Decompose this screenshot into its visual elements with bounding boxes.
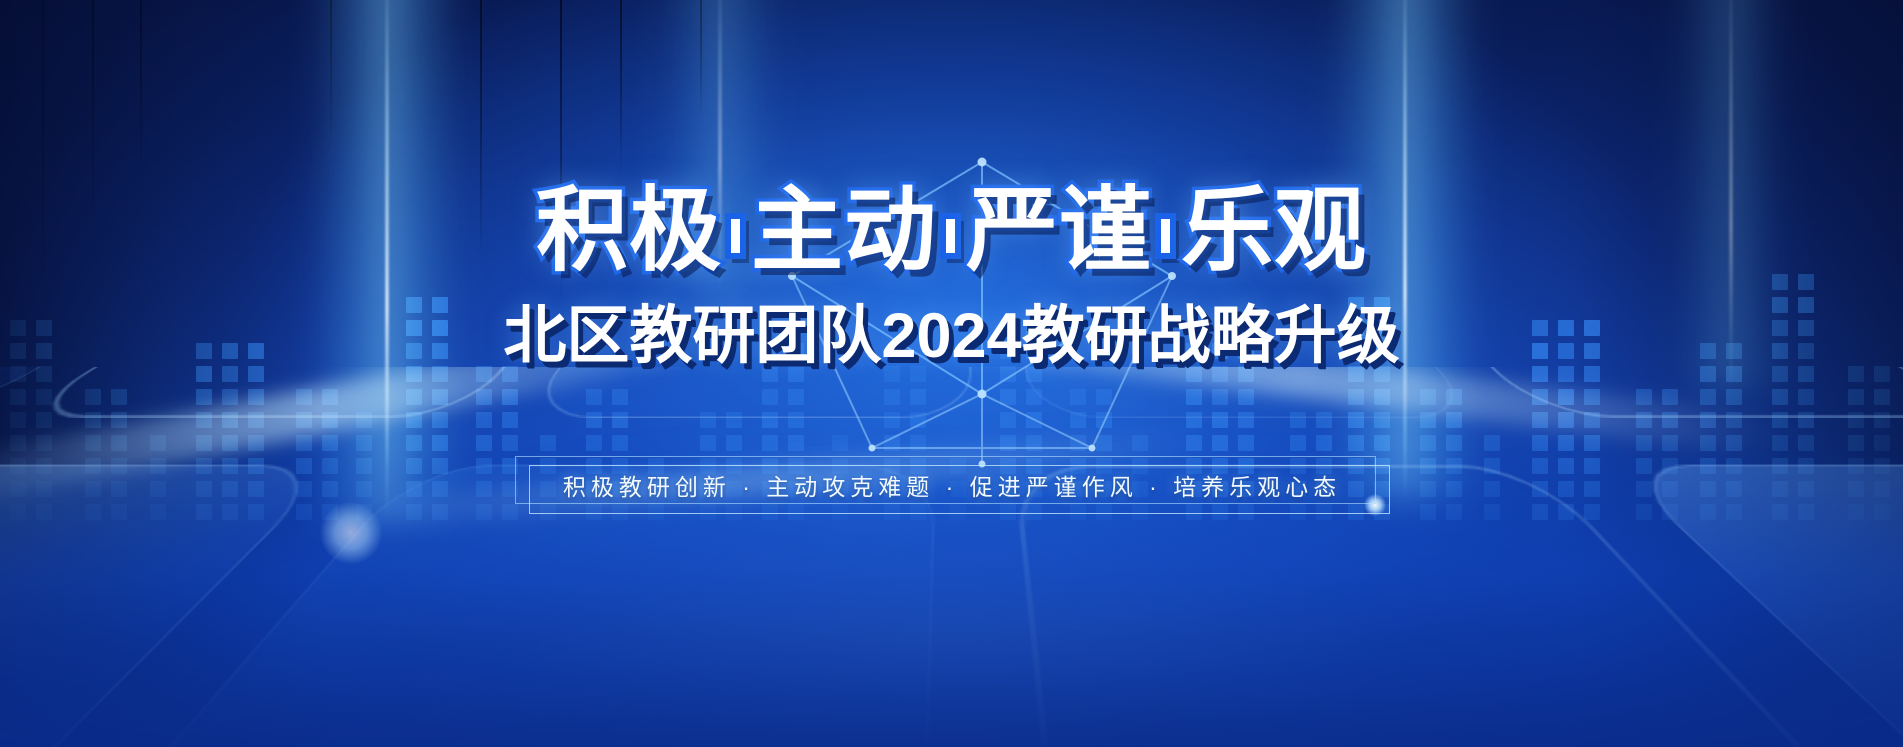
sub-title: 北区教研团队2024教研战略升级: [0, 305, 1903, 368]
main-title-word-2: 主动: [751, 180, 937, 282]
main-title-word-3: 严谨: [966, 180, 1152, 282]
banner-content: 积极主动严谨乐观 北区教研团队2024教研战略升级 积极教研创新 · 主动攻克难…: [0, 0, 1903, 747]
main-title: 积极主动严谨乐观: [0, 185, 1903, 277]
title-separator-3: [1161, 219, 1170, 253]
tagline-text: 积极教研创新 · 主动攻克难题 · 促进严谨作风 · 培养乐观心态: [515, 456, 1390, 514]
main-title-word-4: 乐观: [1181, 180, 1367, 282]
promo-banner: 积极主动严谨乐观 北区教研团队2024教研战略升级 积极教研创新 · 主动攻克难…: [0, 0, 1903, 747]
main-title-word-1: 积极: [536, 180, 722, 282]
title-separator-2: [946, 219, 955, 253]
tagline-frame: 积极教研创新 · 主动攻克难题 · 促进严谨作风 · 培养乐观心态: [515, 456, 1390, 514]
title-separator-1: [731, 219, 740, 253]
